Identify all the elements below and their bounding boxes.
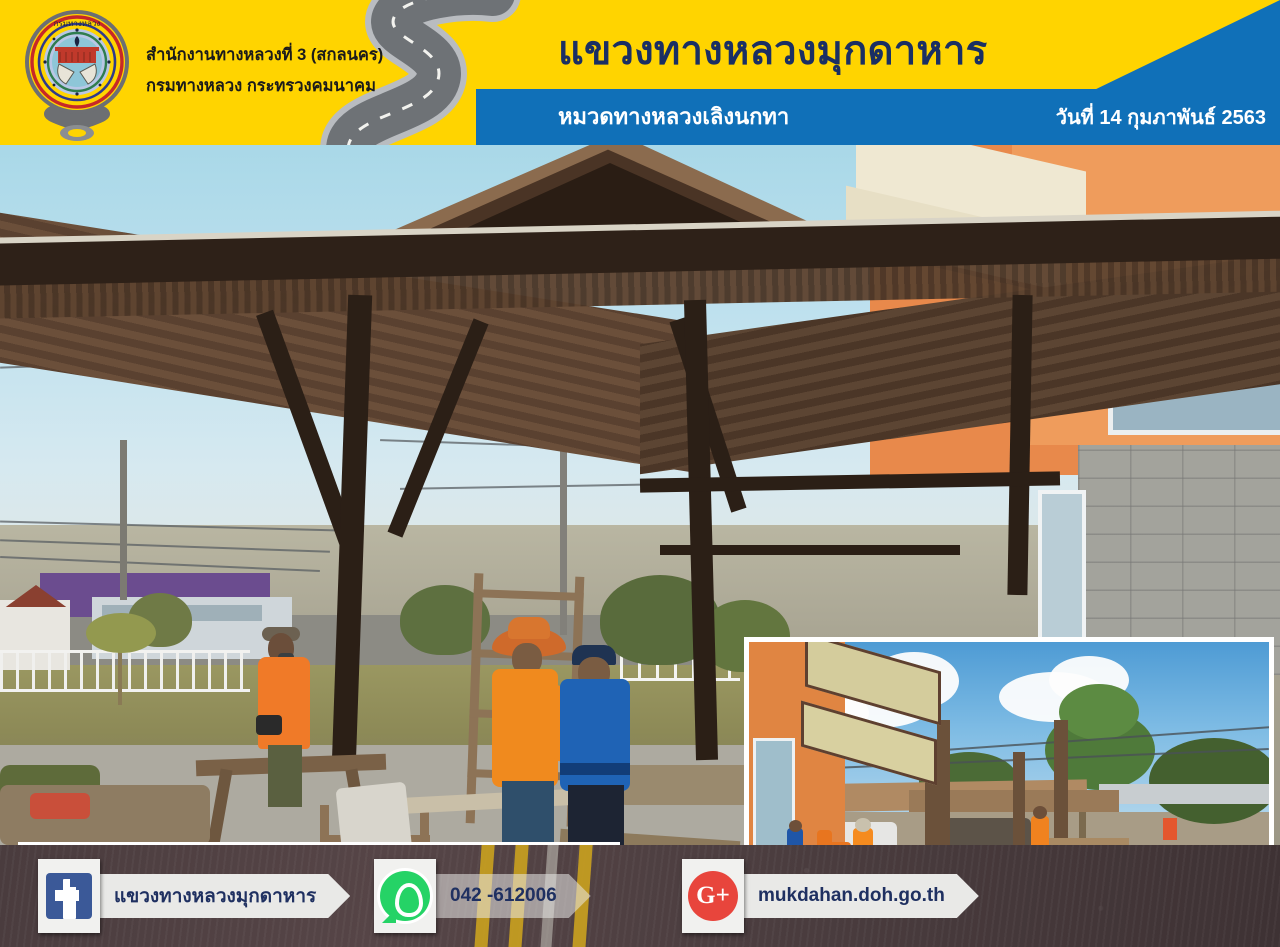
inset-palm-fronds: [1059, 684, 1139, 740]
demolition-debris: [620, 765, 760, 805]
facebook-label-tab[interactable]: แขวงทางหลวงมุกดาหาร: [92, 874, 350, 918]
facebook-icon[interactable]: [38, 859, 100, 933]
whatsapp-icon[interactable]: [374, 859, 436, 933]
page-title: แขวงทางหลวงมุกดาหาร: [558, 18, 987, 82]
inset-wooden-post: [1054, 720, 1068, 845]
google-plus-icon[interactable]: G+: [682, 859, 744, 933]
worker-tool-pouch: [256, 715, 282, 735]
debris-red-item: [30, 793, 90, 819]
inset-worker-head: [1033, 806, 1047, 819]
office-line-2: กรมทางหลวง กระทรวงคมนาคม: [146, 71, 446, 102]
sapling-canopy: [86, 613, 156, 653]
inset-worker-head: [855, 818, 871, 832]
inset-worker-orange: [1031, 816, 1049, 845]
footer-item-website[interactable]: G+ mukdahan.doh.go.th: [682, 859, 979, 933]
building-window: [1038, 490, 1086, 658]
inset-table: [1049, 838, 1129, 845]
pavilion-crossbeam: [660, 545, 960, 555]
inset-worker-head: [789, 820, 802, 832]
facebook-label: แขวงทางหลวงมุกดาหาร: [114, 881, 316, 911]
phone-label-tab[interactable]: 042 -612006: [428, 874, 591, 918]
white-fence-left: [0, 650, 250, 692]
header-banner: กรมทางหลวง สำนักงานทางหลวงที่ 3 (สกลนคร)…: [0, 0, 1280, 145]
inset-photograph: [744, 637, 1274, 845]
main-photograph: งานรื้อถอนศาลาที่พัก (ชำรุด) ภายในบริเวณ…: [0, 145, 1280, 845]
svg-text:กรมทางหลวง: กรมทางหลวง: [54, 19, 101, 28]
header-date: วันที่ 14 กุมภาพันธ์ 2563: [1056, 101, 1266, 133]
electric-pole: [120, 440, 127, 600]
worker-jeans: [502, 781, 554, 845]
inset-far-roof: [1099, 784, 1274, 804]
website-label-tab[interactable]: mukdahan.doh.go.th: [736, 874, 979, 918]
worker-orange-shirt: [258, 657, 310, 749]
worker-hat-crown: [508, 617, 550, 639]
inset-traffic-cone: [1163, 818, 1177, 840]
footer-item-phone[interactable]: 042 -612006: [374, 859, 591, 933]
office-name-block: สำนักงานทางหลวงที่ 3 (สกลนคร) กรมทางหลวง…: [146, 40, 446, 102]
header-subtitle: หมวดทางหลวงเลิงนกทา: [558, 99, 789, 134]
worker-trousers: [568, 785, 624, 845]
plastic-chair: [335, 782, 414, 845]
poster-page: กรมทางหลวง สำนักงานทางหลวงที่ 3 (สกลนคร)…: [0, 0, 1280, 947]
worker-belt: [560, 763, 630, 775]
department-of-highways-seal-icon: กรมทางหลวง: [14, 6, 140, 145]
inset-wooden-post: [1013, 752, 1025, 845]
footer-bar: แขวงทางหลวงมุกดาหาร 042 -612006 G+ mukda…: [0, 845, 1280, 947]
inset-wooden-post: [937, 720, 950, 845]
header-diagonal-accent: [1090, 0, 1280, 92]
footer-item-facebook[interactable]: แขวงทางหลวงมุกดาหาร: [38, 859, 350, 933]
google-plus-glyph: G+: [688, 871, 738, 921]
phone-label: 042 -612006: [450, 885, 557, 907]
office-line-1: สำนักงานทางหลวงที่ 3 (สกลนคร): [146, 40, 446, 71]
worker-trousers: [268, 745, 302, 807]
website-label: mukdahan.doh.go.th: [758, 885, 945, 907]
